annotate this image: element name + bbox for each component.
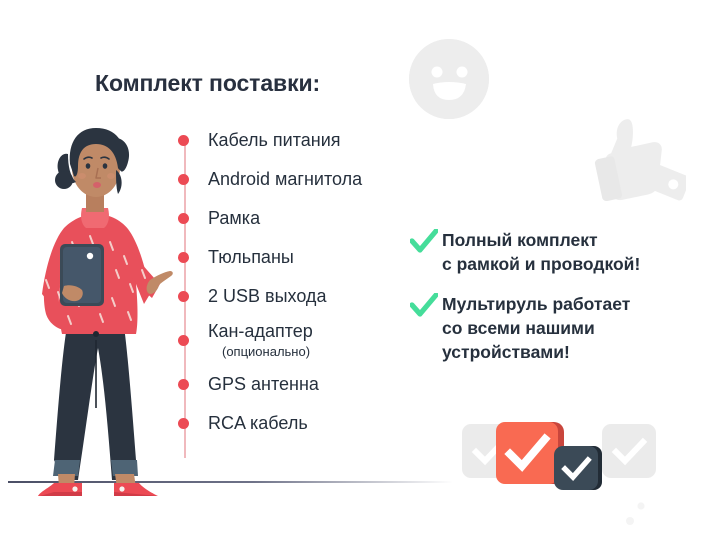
benefit-item: Мультируль работает со всеми нашими устр… <box>410 292 700 364</box>
benefit-item: Полный комплект с рамкой и проводкой! <box>410 228 700 276</box>
list-item-label: Кан-адаптер <box>208 321 313 341</box>
avito-dots-icon <box>624 502 648 525</box>
bullet-dot-icon <box>178 174 189 185</box>
benefit-label: Полный комплект с рамкой и проводкой! <box>442 228 640 276</box>
bullet-dot-icon <box>178 135 189 146</box>
list-item-label: RCA кабель <box>208 413 308 433</box>
list-item-label: Тюльпаны <box>208 247 294 267</box>
bullet-dot-icon <box>178 252 189 263</box>
list-item: 2 USB выхода <box>178 284 418 308</box>
product-listing-poster: Комплект поставки: Кабель питания Androi… <box>0 0 720 540</box>
checkbox-checked-gray-icon <box>602 424 656 478</box>
checkbox-cluster-decoration <box>462 412 632 488</box>
list-item: Тюльпаны <box>178 245 418 269</box>
green-check-icon <box>410 293 438 319</box>
bullet-dot-icon <box>178 418 189 429</box>
list-item: Кабель питания <box>178 128 418 152</box>
list-item-label: 2 USB выхода <box>208 286 326 306</box>
checkbox-checked-coral-icon <box>496 422 558 484</box>
bullet-dot-icon <box>178 335 189 346</box>
green-check-icon <box>410 229 438 255</box>
avito-watermark: Avito <box>622 500 714 528</box>
bullet-dot-icon <box>178 291 189 302</box>
list-item: RCA кабель <box>178 411 418 435</box>
bullet-dot-icon <box>178 379 189 390</box>
list-item: Кан-адаптер (опционально) <box>178 319 418 361</box>
bullet-dot-icon <box>178 213 189 224</box>
list-item-sublabel: (опционально) <box>222 344 310 359</box>
benefit-label: Мультируль работает со всеми нашими устр… <box>442 292 630 364</box>
page-title: Комплект поставки: <box>95 70 320 97</box>
list-item-label: Рамка <box>208 208 260 228</box>
package-contents-list: Кабель питания Android магнитола Рамка Т… <box>178 128 418 450</box>
checkbox-checked-navy-icon <box>554 446 598 490</box>
list-item: Рамка <box>178 206 418 230</box>
list-item: GPS антенна <box>178 372 418 396</box>
list-item: Android магнитола <box>178 167 418 191</box>
avito-wordmark: Avito <box>652 504 704 527</box>
woman-pointing-with-tablet-illustration <box>12 108 174 496</box>
benefits-list: Полный комплект с рамкой и проводкой! Му… <box>410 228 700 380</box>
list-item-label: GPS антенна <box>208 374 319 394</box>
thumbs-up-icon <box>578 106 686 214</box>
list-item-label: Кабель питания <box>208 130 341 150</box>
smiley-face-icon <box>408 38 490 120</box>
list-item-label: Android магнитола <box>208 169 362 189</box>
